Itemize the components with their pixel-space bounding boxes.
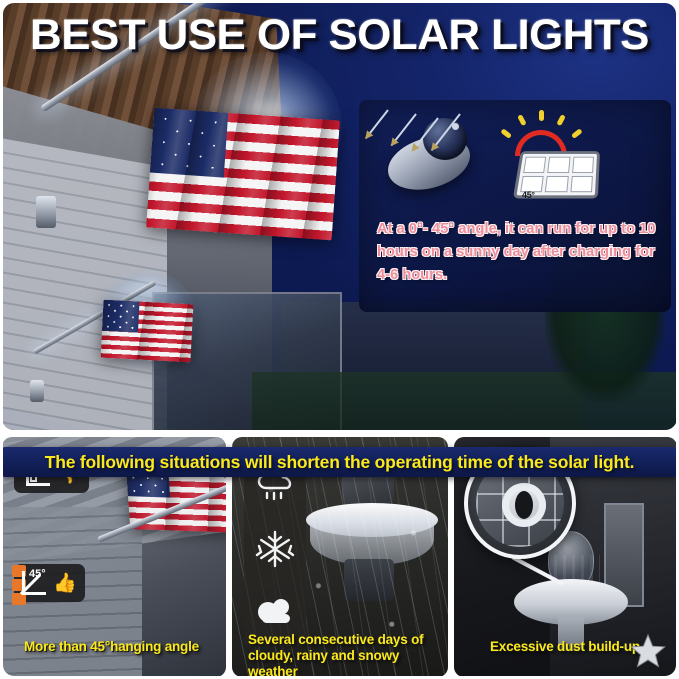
angle-horizontal-line [22,592,46,595]
solar-light-fixture [306,485,438,605]
caption-bad-weather: Several consecutive days of cloudy, rain… [248,632,448,679]
panel-angle-label: 45° [522,190,535,200]
caption-hanging-angle: More than 45°hanging angle [24,639,199,655]
callout-center-ring [502,483,546,527]
sun-ray [500,128,512,139]
badge-45-degree-good: 45° 👍 [14,564,85,602]
solar-runtime-info-card: 45° At a 0°- 45° angle, it can run for u… [359,100,671,312]
angle-horizontal-line [26,483,50,486]
product-infographic-poster: 45° At a 0°- 45° angle, it can run for u… [0,0,679,679]
panel-cell [545,175,568,192]
acute-angle-icon: 45° [18,569,48,597]
top-scene-panel: 45° At a 0°- 45° angle, it can run for u… [2,2,677,430]
caption-bad-weather-line2: cloudy, rainy and snowy weather [248,648,448,679]
pole-bracket-upper [36,196,56,228]
info-card-icon-row: 45° [359,104,671,208]
warning-banner: The following situations will shorten th… [2,447,677,477]
flag-canton [150,108,229,178]
warning-banner-text: The following situations will shorten th… [45,452,635,473]
panel-cell [548,157,571,173]
sun-ray [556,114,566,126]
badge-angle-label: 45° [29,568,46,580]
page-title: BEST USE OF SOLAR LIGHTS [0,14,679,57]
caption-bad-weather-line1: Several consecutive days of [248,632,448,648]
fixture-body [310,517,434,565]
thumbs-up-icon: 👍 [53,574,77,593]
light-dome [423,118,467,160]
pole-bracket-lower [30,380,44,402]
fixture-base [344,559,394,601]
tilted-solar-light-disc-icon [381,112,493,204]
panel-cell [523,157,546,173]
sun-ray [571,128,583,139]
runtime-description-text: At a 0°- 45° angle, it can run for up to… [377,218,659,287]
panel-cell [570,175,593,192]
panel-cell [572,157,594,173]
sun-over-solar-panel-icon: 45° [489,110,609,206]
us-flag-lower [101,300,194,363]
star-icon [630,633,666,674]
weather-icon-strip [244,447,306,647]
sun-ray [517,114,527,126]
us-flag-upper [146,108,340,241]
sun-ray [539,110,544,121]
snowflake-icon [255,529,295,569]
flag-canton [102,300,140,333]
caption-dust: Excessive dust build-up [490,639,640,655]
cloudy-icon [253,596,297,626]
sun-ray-arrow [365,109,389,139]
